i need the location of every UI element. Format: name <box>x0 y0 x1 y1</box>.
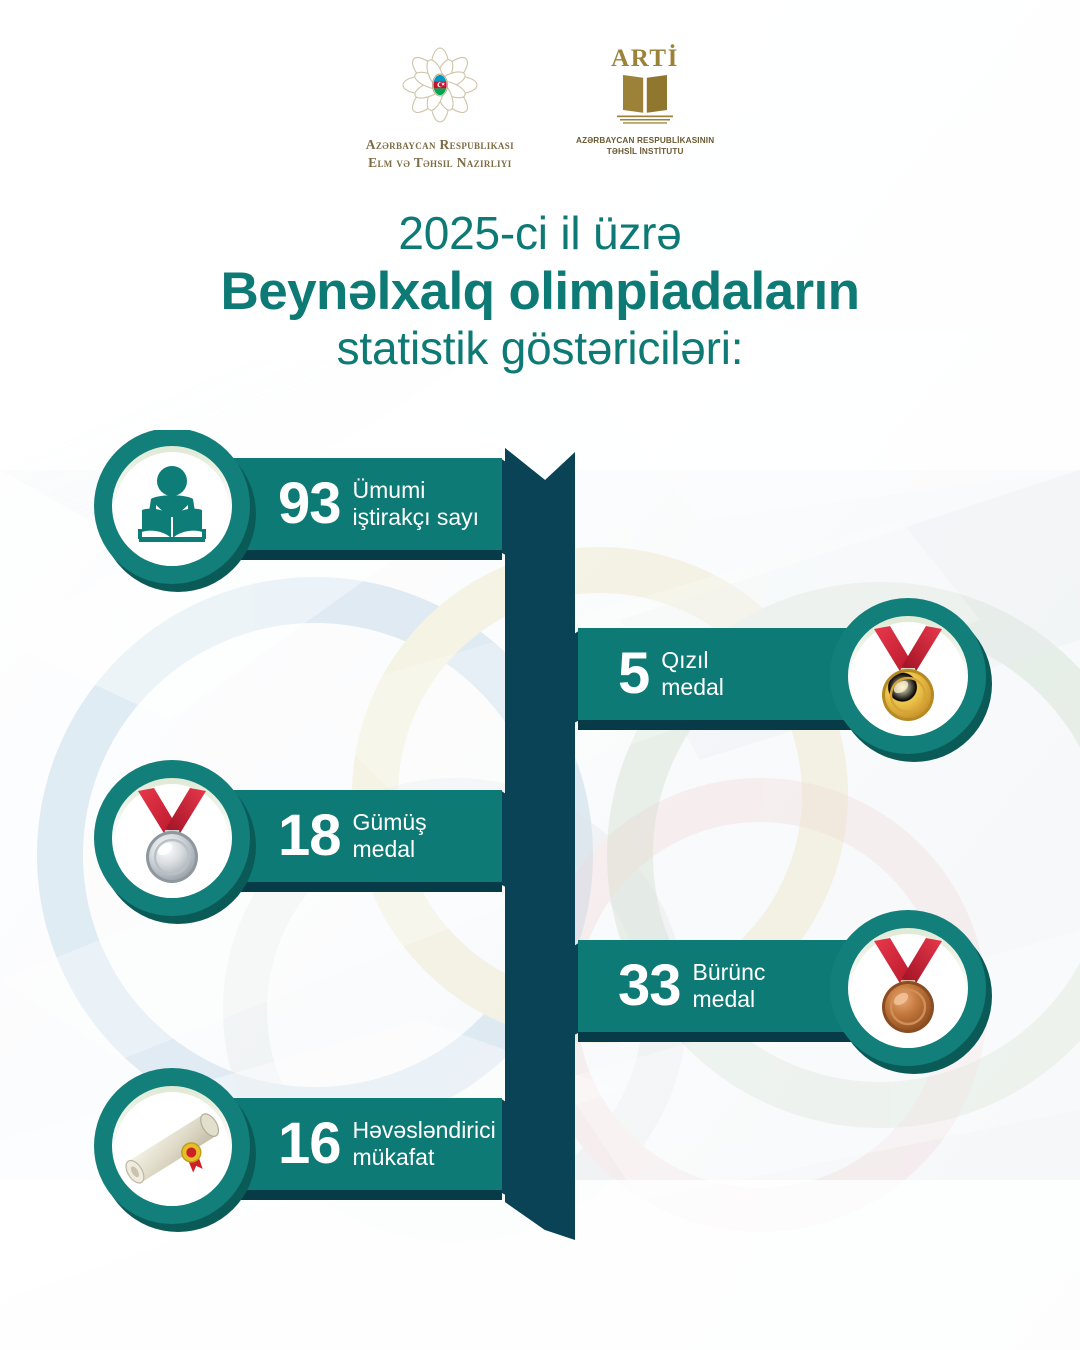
stat-label: Ümumi iştirakçı sayı <box>353 477 480 531</box>
page-title: 2025-ci il üzrə Beynəlxalq olimpiadaları… <box>0 208 1080 374</box>
stat-value: 93 <box>278 475 341 533</box>
stat-value: 16 <box>278 1115 341 1173</box>
ministry-logo-caption: Azərbaycan Respublikası Elm və Təhsil Na… <box>366 136 514 172</box>
statistics-infographic: 93 Ümumi iştirakçı sayı 5 Qızıl medal 18… <box>0 430 1080 1270</box>
stat-row-4-text: 33 Bürünc medal <box>618 954 765 1018</box>
stat-label: Qızıl medal <box>661 647 724 701</box>
stat-value: 18 <box>278 807 341 865</box>
stat-value: 33 <box>618 957 681 1015</box>
stat-label: Gümüş medal <box>353 809 427 863</box>
stat-value: 5 <box>618 645 649 703</box>
logo-header: Azərbaycan Respublikası Elm və Təhsil Na… <box>0 44 1080 172</box>
arti-logo: ARTİ AZƏRBAYCAN RESPUBLİKASININ TƏHSİL İ… <box>576 44 714 158</box>
infographic-poster: Azərbaycan Respublikası Elm və Təhsil Na… <box>0 0 1080 1350</box>
arti-logo-caption: AZƏRBAYCAN RESPUBLİKASININ TƏHSİL İNSTİT… <box>576 135 714 158</box>
title-line-1: 2025-ci il üzrə <box>0 208 1080 260</box>
svg-text:ARTİ: ARTİ <box>611 44 679 72</box>
stat-row-1-text: 93 Ümumi iştirakçı sayı <box>278 472 479 536</box>
stat-row-3-text: 18 Gümüş medal <box>278 804 427 868</box>
title-line-3: statistik göstəriciləri: <box>0 323 1080 375</box>
arti-book-emblem-icon: ARTİ <box>595 44 695 130</box>
ministry-logo: Azərbaycan Respublikası Elm və Təhsil Na… <box>366 44 514 172</box>
stat-row-5-text: 16 Həvəsləndirici mükafat <box>278 1112 496 1176</box>
stat-label: Həvəsləndirici mükafat <box>353 1117 496 1171</box>
title-line-2: Beynəlxalq olimpiadaların <box>0 262 1080 321</box>
stat-row-2 <box>535 598 992 762</box>
stat-label: Bürünc medal <box>693 959 766 1013</box>
azerbaijan-ministry-emblem-icon <box>387 44 493 130</box>
stat-row-2-text: 5 Qızıl medal <box>618 642 724 706</box>
